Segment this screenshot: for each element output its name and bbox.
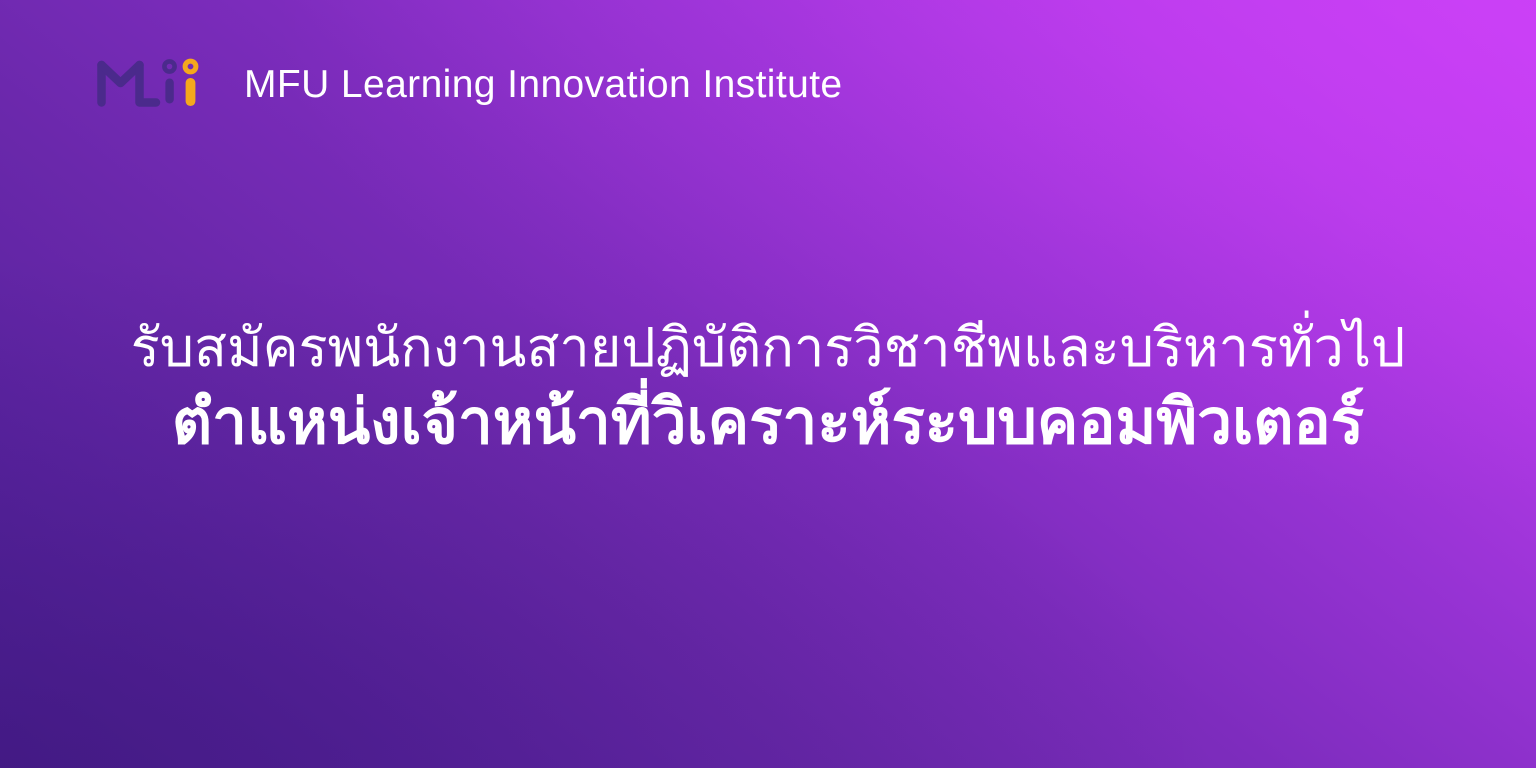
mii-logo-dot-2: [185, 61, 196, 72]
headline-block: รับสมัครพนักงานสายปฏิบัติการวิชาชีพและบร…: [0, 316, 1536, 461]
announcement-slide: MFU Learning Innovation Institute รับสมั…: [0, 0, 1536, 768]
headline-line-2: ตำแหน่งเจ้าหน้าที่วิเคราะห์ระบบคอมพิวเตอ…: [60, 384, 1476, 462]
mii-logo-stem-1: [165, 79, 173, 104]
institute-title: MFU Learning Innovation Institute: [244, 65, 843, 104]
mii-logo-stem-2: [186, 78, 196, 106]
mii-logo-dot-1: [164, 61, 174, 71]
brand-lockup: MFU Learning Innovation Institute: [96, 52, 843, 116]
headline-line-1: รับสมัครพนักงานสายปฏิบัติการวิชาชีพและบร…: [60, 316, 1476, 382]
mii-logo-icon: [96, 52, 206, 116]
